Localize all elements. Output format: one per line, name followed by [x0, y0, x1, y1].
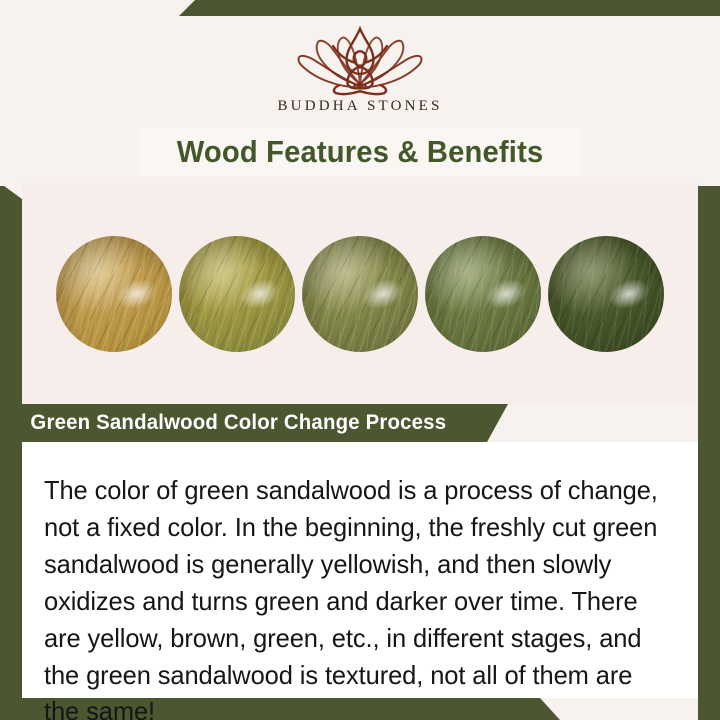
bead-shading: [548, 236, 664, 352]
description-text: The color of green sandalwood is a proce…: [44, 472, 661, 720]
bead-shading: [302, 236, 418, 352]
title-band: Wood Features & Benefits: [140, 128, 580, 176]
bead-shading: [425, 236, 541, 352]
brand-name: BUDDHA STONES: [0, 98, 720, 115]
bead-shading: [179, 236, 295, 352]
page-title: Wood Features & Benefits: [177, 134, 544, 170]
infographic-card: BUDDHA STONES Wood Features & Benefits: [0, 0, 720, 720]
bead-item: [425, 236, 541, 352]
section-banner: Green Sandalwood Color Change Process: [0, 404, 530, 442]
bead-item: [179, 236, 295, 352]
frame-top-bar: [0, 0, 720, 16]
bead-item: [548, 236, 664, 352]
lotus-meditation-icon: [285, 24, 435, 96]
description-panel: The color of green sandalwood is a proce…: [22, 442, 698, 698]
bead-item: [56, 236, 172, 352]
bead-shading: [56, 236, 172, 352]
bead-gallery: [22, 183, 698, 404]
bead-item: [302, 236, 418, 352]
frame-left-bar: [0, 183, 22, 720]
section-title: Green Sandalwood Color Change Process: [30, 411, 446, 435]
